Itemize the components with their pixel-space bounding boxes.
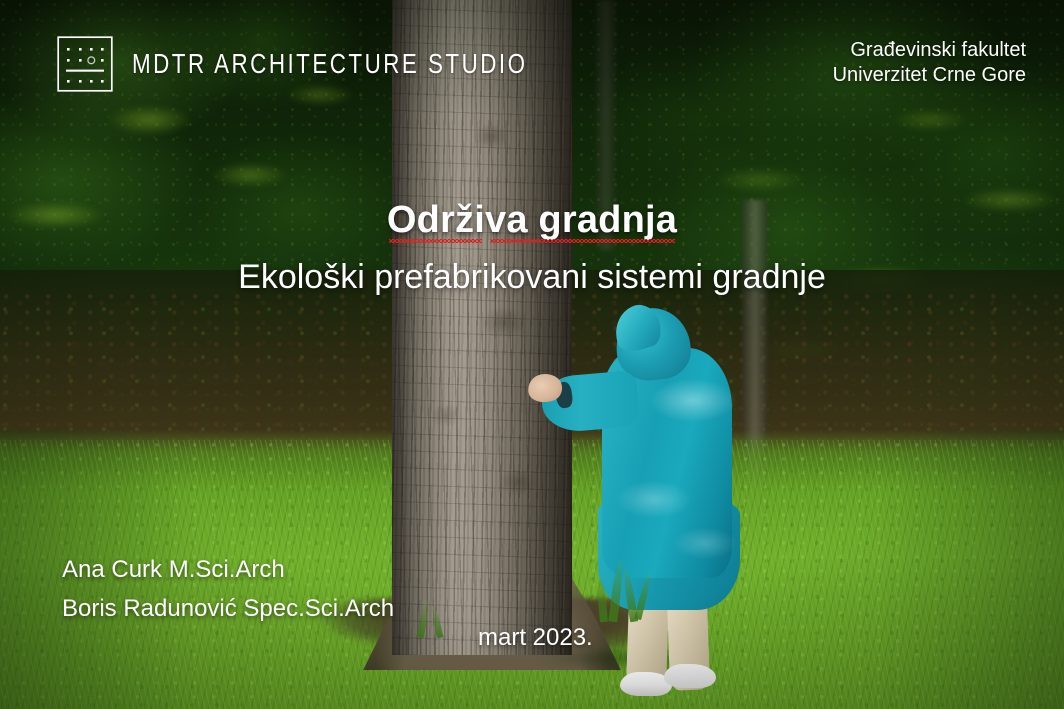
spellcheck-underline-word-2 xyxy=(490,239,675,243)
presentation-date: mart 2023. xyxy=(478,624,593,652)
studio-logo-lockup: MDTR ARCHITECTURE STUDIO xyxy=(57,36,626,92)
page-title: Održiva gradnja xyxy=(387,198,677,242)
studio-logo-text: MDTR ARCHITECTURE STUDIO xyxy=(132,48,528,80)
presentation-title-slide: MDTR ARCHITECTURE STUDIO Građevinski fak… xyxy=(0,0,1064,709)
page-subtitle: Ekološki prefabrikovani sistemi gradnje xyxy=(0,256,1064,298)
institution-block: Građevinski fakultet Univerzitet Crne Go… xyxy=(833,38,1026,88)
faculty-name: Građevinski fakultet xyxy=(833,38,1026,63)
title-block: Održiva gradnja Ekološki prefabrikovani … xyxy=(0,198,1064,298)
spellcheck-underline-word-1 xyxy=(389,239,482,243)
authors-block: Ana Curk M.Sci.Arch Boris Radunović Spec… xyxy=(62,550,394,628)
slide-content-overlay: MDTR ARCHITECTURE STUDIO Građevinski fak… xyxy=(0,0,1064,709)
mdtr-grid-logo-icon xyxy=(57,36,113,92)
author-name: Boris Radunović Spec.Sci.Arch xyxy=(62,589,394,628)
main-title-text: Održiva gradnja xyxy=(387,199,677,241)
author-name: Ana Curk M.Sci.Arch xyxy=(62,550,394,589)
university-name: Univerzitet Crne Gore xyxy=(833,63,1026,88)
